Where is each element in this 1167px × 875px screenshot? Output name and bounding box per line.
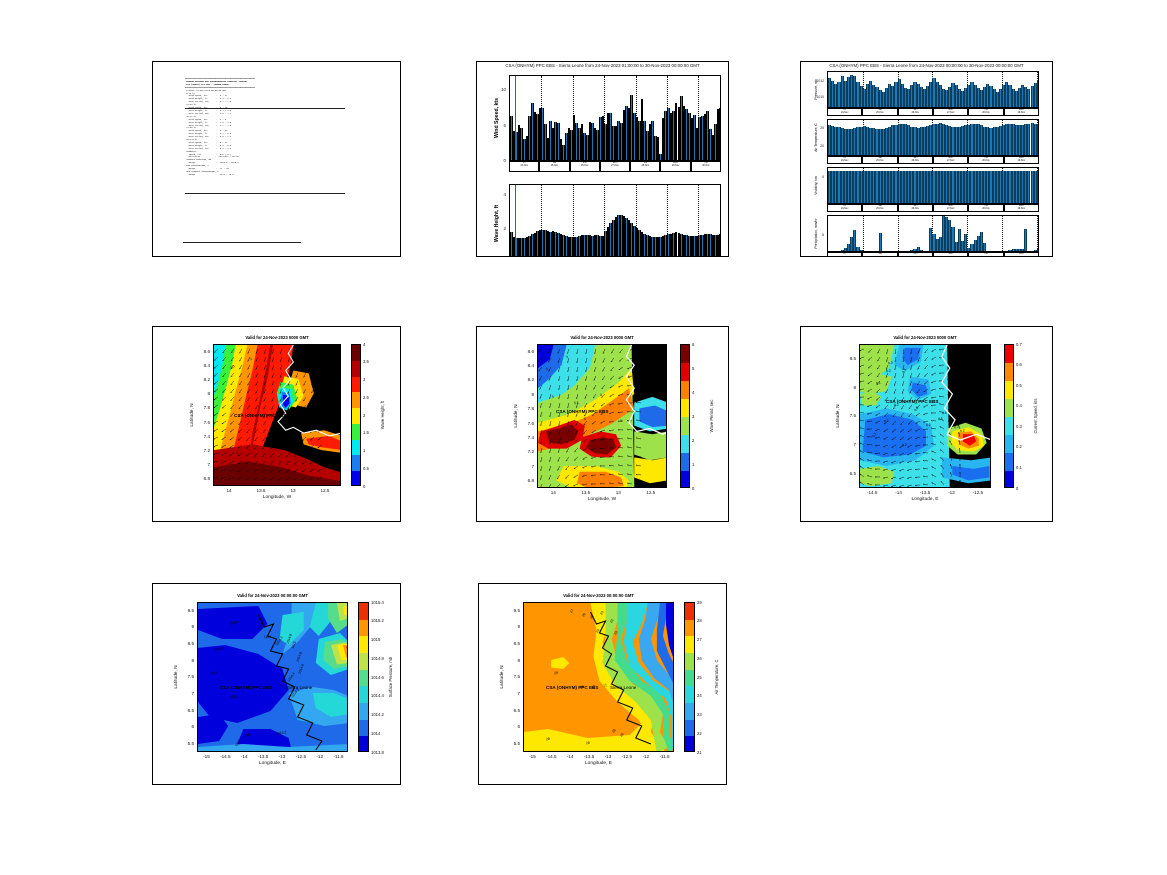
grid-line [863, 216, 864, 251]
date-tick: Wed29-Nov [660, 161, 690, 172]
colorbar-segment [359, 703, 368, 720]
y-tick-label: 8 [518, 392, 534, 397]
colorbar-segment [685, 686, 694, 703]
y-tick-label: 7.4 [518, 435, 534, 440]
y-tick-label: 8.5 [178, 641, 194, 646]
bar [1037, 171, 1039, 203]
current-speed-map-panel: Valid for 24-Nov-2023 0000 GMT0.30.20.30… [800, 326, 1053, 522]
x-tick-label: 13 [279, 488, 307, 493]
map-plot-area: 2726252322232428272828282829CSA (ONHYM) … [523, 602, 674, 752]
date-tick: Mon27-Nov [933, 204, 968, 212]
y-tick-label: 5.5 [178, 741, 194, 746]
colorbar-tick-label: 2 [692, 438, 694, 443]
contour-label: 5.5 [574, 401, 579, 405]
colorbar-tick-label: 21 [697, 750, 702, 755]
y-tick-label: 9 [178, 624, 194, 629]
y-tick-label: 8 [178, 658, 194, 663]
grid-line [1002, 216, 1003, 251]
colorbar [684, 602, 695, 752]
timeseries-axes [827, 71, 1039, 108]
colorbar-tick-label: 0.4 [1016, 403, 1022, 408]
colorbar-segment [1005, 453, 1013, 471]
colorbar-segment [685, 620, 694, 637]
contour-label: 0.2 [886, 369, 891, 374]
date-tick: Fri24-Nov [827, 252, 862, 257]
date-tick: Fri24-Nov [827, 204, 862, 212]
date-tick: Mon27-Nov [933, 252, 968, 257]
contour-label: 0.3 [954, 425, 959, 430]
y-tick-label: 8.6 [518, 349, 534, 354]
contour-label: 0.1 [876, 381, 881, 386]
date-tick-date: 24-Nov [510, 165, 538, 167]
contour-label: 0.2 [960, 429, 965, 434]
colorbar-tick-label: 28 [697, 618, 702, 623]
date-tick: Wed29-Nov [1004, 252, 1039, 257]
date-tick-date: 25-Nov [540, 165, 568, 167]
colorbar-segment [359, 603, 368, 620]
site-label: CSA (ONHYM) PPC EBS [234, 413, 286, 418]
y-tick-label: 6.5 [504, 708, 520, 713]
chart-title: Valid for 24-Nov-2023 0000 GMT [839, 335, 1011, 340]
y-tick-label: 7.6 [518, 421, 534, 426]
colorbar-tick-label: 0.7 [1016, 342, 1022, 347]
site-label: CSA (ONHYM) PPC EBS [556, 409, 608, 414]
date-tick-date: 27-Nov [934, 112, 967, 114]
colorbar-segment [681, 471, 689, 488]
date-tick-date: 27-Nov [934, 256, 967, 257]
colorbar-segment [1005, 399, 1013, 417]
colorbar-segment [352, 408, 360, 424]
date-tick-date: 26-Nov [899, 256, 932, 257]
date-tick-date: 29-Nov [1005, 208, 1038, 210]
y-tick-label: 7.8 [194, 405, 210, 410]
x-axis-label: Longitude, E [197, 761, 348, 766]
contour-label: 0.3 [888, 361, 893, 366]
date-tick: Tue28-Nov [968, 108, 1003, 116]
colorbar-tick-label: 1013.8 [371, 750, 384, 755]
colorbar-tick-label: 1015.2 [371, 618, 384, 623]
colorbar-segment [685, 653, 694, 670]
colorbar-tick-label: 0.5 [363, 466, 369, 471]
y-tick-label: 6.8 [194, 476, 210, 481]
y-tick-label: 7 [178, 691, 194, 696]
date-tick-date: 24-Nov [828, 112, 861, 114]
date-tick: Sat25-Nov [862, 252, 897, 257]
contour-label: 28 [586, 741, 590, 745]
colorbar-segment [685, 720, 694, 737]
date-tick: Sun26-Nov [898, 204, 933, 212]
colorbar [351, 344, 361, 486]
y-tick-label: 1010 [805, 95, 824, 99]
date-tick-date: 25-Nov [863, 112, 896, 114]
colorbar-tick-label: 5 [692, 366, 694, 371]
y-tick-label: 6.8 [518, 478, 534, 483]
colorbar-tick-label: 25 [697, 675, 702, 680]
date-tick: Thu30-Nov [691, 161, 721, 172]
date-tick-date: 29-Nov [1005, 256, 1038, 257]
colorbar-segment [352, 440, 360, 456]
x-tick-label: -14 [885, 490, 913, 495]
wave-period-map-panel: Valid for 24-Nov-2023 0000 GMT2355.55443… [476, 326, 729, 522]
date-tick-date: 26-Nov [899, 160, 932, 162]
map-plot-area: 2355.554431CSA (ONHYM) PPC EBS [537, 344, 667, 488]
y-axis-label: Latitude, N [190, 344, 195, 486]
date-tick: Fri24-Nov [827, 108, 862, 116]
colorbar-segment [681, 399, 689, 417]
colorbar-tick-label: 26 [697, 656, 702, 661]
chart-title: Valid for 24-Nov-2023 0000 GMT [193, 335, 361, 340]
x-tick-label: 14 [215, 488, 243, 493]
report-page: ========================================… [0, 0, 1167, 875]
colorbar-segment [352, 455, 360, 471]
wind-wave-timeseries-panel: CSA (ONHYM) PPC EBS - Sierra Leone from … [476, 61, 729, 257]
colorbar-segment [681, 363, 689, 381]
colorbar-segment [359, 686, 368, 703]
timeseries-axes [509, 75, 721, 161]
contour-label: 1014 [210, 671, 218, 676]
date-tick: Sun26-Nov [898, 252, 933, 257]
colorbar-segment [685, 736, 694, 752]
contour-label: 4 [600, 393, 603, 397]
y-tick-label: 5 [487, 123, 506, 128]
date-tick-date: 29-Nov [1005, 112, 1038, 114]
report-divider [183, 242, 301, 243]
x-tick-label: -13.5 [911, 490, 939, 495]
bar [719, 234, 721, 257]
chart-title: CSA (ONHYM) PPC EBS - Sierra Leone from … [477, 63, 728, 68]
colorbar-tick-label: 2 [363, 413, 365, 418]
colorbar-tick-label: 1015.4 [371, 600, 384, 605]
x-tick-label: -11.5 [651, 754, 679, 759]
colorbar-segment [1005, 435, 1013, 453]
bar [1037, 124, 1039, 155]
colorbar-label: Air Temperature, C [714, 602, 719, 752]
colorbar-segment [1005, 417, 1013, 435]
date-tick-date: 26-Nov [899, 112, 932, 114]
date-tick: Wed29-Nov [1004, 204, 1039, 212]
y-tick-label: 7.5 [504, 674, 520, 679]
date-tick: Fri24-Nov [827, 156, 862, 164]
colorbar-tick-label: 0.1 [1016, 465, 1022, 470]
colorbar-tick-label: 3 [692, 414, 694, 419]
y-tick-label: 4 [487, 192, 506, 197]
place-label: Sierra Leone [286, 685, 312, 690]
report-text-block: ========================================… [185, 78, 385, 177]
date-tick-date: 30-Nov [692, 165, 720, 167]
colorbar-tick-label: 4 [363, 342, 365, 347]
colorbar [680, 344, 690, 488]
date-tick: Mon27-Nov [933, 156, 968, 164]
colorbar-tick-label: 0.6 [1016, 362, 1022, 367]
colorbar-tick-label: 1014 [371, 731, 380, 736]
colorbar-segment [352, 471, 360, 486]
date-tick: Sat25-Nov [539, 161, 569, 172]
colorbar-segment [359, 736, 368, 752]
colorbar-segment [1005, 345, 1013, 363]
colorbar-segment [1005, 381, 1013, 399]
colorbar-segment [685, 670, 694, 687]
colorbar-tick-label: 0.5 [1016, 383, 1022, 388]
date-tick: Tue28-Nov [968, 204, 1003, 212]
y-axis-label: Pressure, mb [814, 71, 818, 108]
contour-label: 0.2 [926, 423, 931, 427]
y-tick-label: 8.5 [504, 641, 520, 646]
y-tick-label: 10 [487, 87, 506, 92]
colorbar-segment [359, 670, 368, 687]
x-tick-label: -13 [937, 490, 965, 495]
colorbar [1004, 344, 1014, 488]
colorbar-segment [685, 603, 694, 620]
contour-label: 1014 [264, 635, 272, 639]
colorbar-segment [685, 636, 694, 653]
y-tick-label: 6 [178, 724, 194, 729]
colorbar-label: Wave Period, sec [709, 344, 714, 488]
bar [920, 250, 923, 251]
colorbar-segment [352, 361, 360, 377]
colorbar-tick-label: 0 [692, 486, 694, 491]
date-tick: Wed29-Nov [1004, 156, 1039, 164]
y-axis-label: Air Temperature, C [814, 119, 818, 156]
date-tick: Tue28-Nov [968, 252, 1003, 257]
x-tick-label: -14.5 [858, 490, 886, 495]
colorbar-tick-label: 1014.6 [371, 675, 384, 680]
colorbar-tick-label: 1014.2 [371, 712, 384, 717]
date-tick-date: 28-Nov [969, 208, 1002, 210]
contour-label: 1014 [244, 733, 252, 738]
bar [860, 250, 863, 251]
date-tick-date: 24-Nov [828, 256, 861, 257]
timeseries-axes [827, 167, 1039, 204]
colorbar-tick-label: 27 [697, 637, 702, 642]
y-tick-label: 6 [504, 724, 520, 729]
colorbar-segment [1005, 471, 1013, 488]
map-plot-area: 2.5233.53CSA (ONHYM) PPC EBS [213, 344, 341, 486]
bar [879, 233, 882, 251]
y-tick-label: 8 [194, 391, 210, 396]
colorbar-segment [359, 636, 368, 653]
colorbar-tick-label: 23 [697, 712, 702, 717]
date-tick: Sun26-Nov [570, 161, 600, 172]
met-timeseries-panel: CSA (ONHYM) PPC EBS - Sierra Leone from … [800, 61, 1053, 257]
contour-label: 0.4 [948, 419, 953, 424]
colorbar-tick-label: 1014.4 [371, 693, 384, 698]
current-time-marker [515, 76, 516, 160]
colorbar-label: Current Speed, kts [1033, 344, 1038, 488]
current-time-marker [515, 185, 516, 257]
x-tick-label: 12.5 [637, 490, 665, 495]
colorbar-segment [681, 435, 689, 453]
colorbar-label: Surface Pressure, mb [388, 602, 393, 752]
colorbar-tick-label: 1014.8 [371, 656, 384, 661]
date-tick: Mon27-Nov [600, 161, 630, 172]
text-report-panel: ========================================… [152, 61, 401, 257]
date-tick-date: 25-Nov [863, 256, 896, 257]
y-tick-label: 7.5 [178, 674, 194, 679]
colorbar-tick-label: 1 [692, 462, 694, 467]
site-marker-star: ☆ [603, 684, 607, 689]
date-tick-date: 26-Nov [899, 208, 932, 210]
colorbar-tick-label: 1015 [371, 637, 380, 642]
date-tick-date: 27-Nov [934, 208, 967, 210]
y-tick-label: 7.5 [840, 413, 856, 418]
contour-label: 0.5 [938, 417, 943, 421]
colorbar-tick-label: 4 [692, 390, 694, 395]
date-tick-date: 26-Nov [571, 165, 599, 167]
contour-label: 4 [560, 437, 562, 441]
date-tick: Tue28-Nov [630, 161, 660, 172]
colorbar-segment [359, 620, 368, 637]
grid-line [898, 216, 899, 251]
y-tick-label: 7 [840, 442, 856, 447]
date-tick: Sat25-Nov [862, 156, 897, 164]
y-tick-label: 7.8 [518, 406, 534, 411]
date-tick: Fri24-Nov [509, 161, 539, 172]
date-tick: Wed29-Nov [1004, 108, 1039, 116]
x-tick-label: 13 [604, 490, 632, 495]
colorbar-label: Wave Height, ft [380, 344, 385, 486]
map-plot-area: 10141013.810141014101410141013.210141014… [197, 602, 348, 752]
colorbar-tick-label: 24 [697, 693, 702, 698]
colorbar-tick-label: 22 [697, 731, 702, 736]
y-tick-label: 25 [805, 126, 824, 130]
bar [1037, 80, 1039, 107]
colorbar-tick-label: 1.5 [363, 430, 369, 435]
chart-title: Valid for 24-Nov-2023 00:00:00 GMT [177, 593, 368, 598]
x-tick-label: 13.5 [247, 488, 275, 493]
y-tick-label: 5 [805, 233, 824, 237]
report-divider [185, 108, 345, 109]
y-tick-label: 7.2 [194, 448, 210, 453]
y-tick-label: 2 [487, 226, 506, 231]
colorbar-tick-label: 1 [363, 448, 365, 453]
bar [1024, 229, 1027, 251]
y-tick-label: 6.5 [840, 471, 856, 476]
y-axis-label: Latitude, N [836, 344, 841, 488]
y-axis-label: Visibility, nm [814, 167, 818, 204]
y-tick-label: 0 [487, 158, 506, 163]
date-tick-date: 25-Nov [863, 160, 896, 162]
colorbar-segment [681, 417, 689, 435]
x-axis-label: Longitude, E [859, 497, 991, 502]
x-axis-label: Longitude, W [213, 495, 341, 500]
chart-title: Valid for 24-Nov-2023 00:00:00 GMT [503, 593, 694, 598]
y-tick-label: 7.2 [518, 449, 534, 454]
y-tick-label: 9.5 [504, 608, 520, 613]
x-tick-label: -12.5 [964, 490, 992, 495]
contour-label: 28 [546, 737, 550, 741]
coastline [860, 345, 991, 488]
y-tick-label: 1012 [805, 79, 824, 83]
grid-line [1037, 216, 1038, 251]
y-tick-label: 5 [805, 175, 824, 179]
date-tick-date: 24-Nov [828, 160, 861, 162]
y-axis-label: Latitude, N [174, 602, 179, 752]
y-tick-label: 9.5 [178, 608, 194, 613]
coastline [198, 603, 348, 752]
bar [719, 108, 721, 160]
contour-label: 3 [236, 451, 239, 455]
y-tick-label: 8.6 [194, 349, 210, 354]
colorbar-tick-label: 2.5 [363, 395, 369, 400]
colorbar-segment [1005, 363, 1013, 381]
y-tick-label: 5.5 [504, 741, 520, 746]
contour-label: 3 [620, 419, 623, 423]
report-divider [185, 193, 345, 194]
timeseries-axes [509, 184, 721, 257]
colorbar-segment [681, 345, 689, 363]
date-tick: Tue28-Nov [968, 156, 1003, 164]
date-tick-date: 27-Nov [934, 160, 967, 162]
colorbar-tick-label: 3.5 [363, 359, 369, 364]
date-tick-date: 29-Nov [1005, 160, 1038, 162]
date-tick-date: 27-Nov [601, 165, 629, 167]
colorbar-segment [352, 392, 360, 408]
coastline [538, 345, 667, 488]
date-tick: Sat25-Nov [862, 204, 897, 212]
x-tick-label: 12.5 [311, 488, 339, 493]
site-label: CSA (ONHYM) PPC EBS [886, 399, 938, 404]
date-tick: Sun26-Nov [898, 156, 933, 164]
date-tick-date: 28-Nov [969, 256, 1002, 257]
y-tick-label: 8.5 [840, 356, 856, 361]
colorbar-segment [681, 381, 689, 399]
y-tick-label: 7 [518, 464, 534, 469]
y-tick-label: 8.2 [194, 377, 210, 382]
date-tick-date: 28-Nov [631, 165, 659, 167]
air-temperature-map-panel: Valid for 24-Nov-2023 00:00:00 GMT272625… [478, 583, 727, 785]
colorbar-tick-label: 29 [697, 600, 702, 605]
colorbar-segment [352, 424, 360, 440]
grid-line [967, 216, 968, 251]
date-tick-date: 29-Nov [661, 165, 689, 167]
colorbar-segment [359, 720, 368, 737]
site-label: CSA (ONHYM) PPC EBS [220, 685, 272, 690]
bar [1037, 249, 1039, 251]
contour-label: 0.6 [942, 411, 947, 415]
place-label: Sierra Leone [610, 685, 636, 690]
y-tick-label: 8.2 [518, 377, 534, 382]
site-marker-star: ☆ [279, 684, 283, 689]
y-tick-label: 20 [805, 144, 824, 148]
colorbar-tick-label: 0 [363, 484, 365, 489]
colorbar-tick-label: 0.2 [1016, 444, 1022, 449]
y-tick-label: 8 [504, 658, 520, 663]
colorbar-tick-label: 6 [692, 342, 694, 347]
bar [983, 243, 986, 251]
x-tick-label: -11.5 [325, 754, 353, 759]
date-tick-date: 25-Nov [863, 208, 896, 210]
contour-label: 5 [584, 417, 586, 421]
colorbar [358, 602, 369, 752]
colorbar-segment [352, 377, 360, 393]
y-tick-label: 8.4 [518, 363, 534, 368]
contour-label: 0.2 [902, 443, 907, 447]
date-tick: Sun26-Nov [898, 108, 933, 116]
date-tick: Mon27-Nov [933, 108, 968, 116]
chart-title: CSA (ONHYM) PPC EBS - Sierra Leone from … [801, 63, 1052, 68]
x-axis-label: Longitude, W [537, 497, 667, 502]
colorbar-tick-label: 0 [1016, 486, 1018, 491]
wave-height-map-panel: Valid for 24-Nov-2023 0000 GMT2.5233.53C… [152, 326, 401, 522]
report-line: Range : 26.5 - 29.0 [185, 174, 385, 177]
x-tick-label: 13.5 [572, 490, 600, 495]
timeseries-axes [827, 215, 1039, 252]
date-tick: Sat25-Nov [862, 108, 897, 116]
timeseries-axes [827, 119, 1039, 156]
x-tick-label: 14 [539, 490, 567, 495]
contour-label: 3.5 [284, 441, 289, 445]
y-tick-label: 7 [504, 691, 520, 696]
